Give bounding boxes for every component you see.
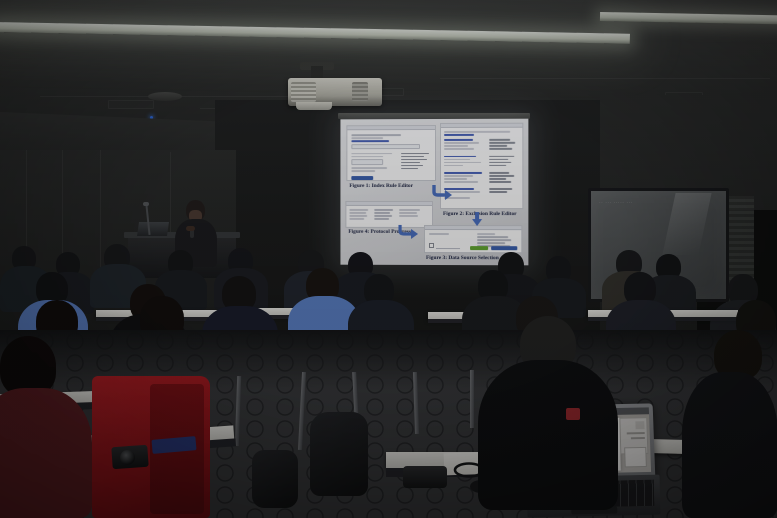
flow-arrow-icon xyxy=(398,223,420,239)
chair-leg xyxy=(470,370,474,428)
ceiling-seam xyxy=(440,78,770,79)
ceiling-vent xyxy=(108,100,154,109)
figure-3-caption: Figure 3: Data Source Selection xyxy=(426,255,499,261)
projector-lens xyxy=(296,102,332,110)
projection-screen: Figure 1: Index Rule Editor xyxy=(340,119,528,266)
microphone-icon xyxy=(143,202,149,206)
lecture-room-photo: Figure 1: Index Rule Editor xyxy=(0,0,777,518)
flow-arrow-icon xyxy=(470,211,484,227)
figure-1-caption: Figure 1: Index Rule Editor xyxy=(349,183,413,189)
whiteboard-writing: ·· ··· ····· ··· xyxy=(599,200,633,206)
presentation-slide: Figure 1: Index Rule Editor xyxy=(340,119,528,266)
backpack xyxy=(252,450,298,508)
eyeglass-case xyxy=(403,466,447,488)
whiteboard-glare xyxy=(662,193,711,255)
jacket-logo xyxy=(566,408,580,420)
backpack xyxy=(310,412,368,496)
camera-lens-icon xyxy=(120,450,135,465)
flow-arrow-icon xyxy=(432,183,454,201)
figure-1-panel xyxy=(346,125,436,181)
figure-3-panel xyxy=(424,225,522,253)
podium-laptop xyxy=(137,222,169,236)
